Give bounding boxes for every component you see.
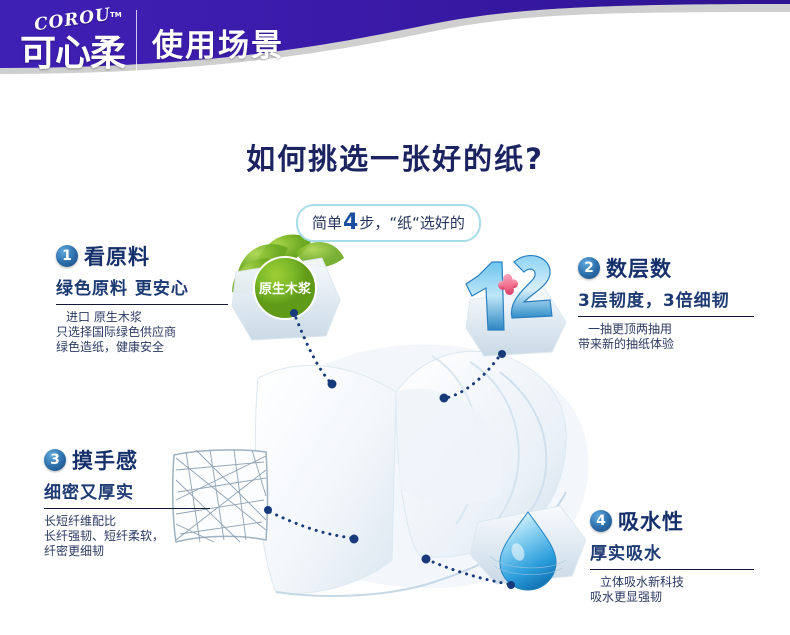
banner-title: 使用场景	[152, 20, 284, 65]
digit-two	[511, 256, 552, 318]
step-1-detail-line-1: 进口 原生木浆	[56, 310, 232, 325]
step-block-2: 2 数层数 3层韧度，3倍细韧 一抽更顶两抽用 带来新的抽纸体验	[578, 253, 758, 352]
step-3-heading: 3 摸手感	[44, 445, 212, 475]
step-3-subtitle: 细密又厚实	[44, 478, 212, 503]
subtitle-prefix: 简单	[312, 214, 342, 232]
step-4-detail-line-2: 吸水更显强韧	[590, 590, 662, 604]
step-3-rule	[44, 508, 210, 509]
step-1-detail-line-3: 绿色造纸，健康安全	[56, 340, 164, 354]
layers-1plus2-graphic	[466, 256, 566, 356]
subtitle-suffix: 步，“纸“选好的	[359, 214, 465, 232]
pulp-badge-label: 原生木浆	[259, 281, 312, 297]
step-1-number-badge: 1	[56, 245, 78, 267]
header-divider	[136, 10, 137, 76]
step-2-title: 数层数	[606, 253, 672, 283]
step-2-heading: 2 数层数	[578, 253, 758, 283]
step-4-detail-line-1: 立体吸水新科技	[590, 575, 758, 590]
step-1-heading: 1 看原料	[56, 241, 232, 271]
step-4-title: 吸水性	[618, 506, 684, 536]
subtitle-number: 4	[342, 210, 359, 235]
step-4-rule	[590, 569, 754, 570]
step-2-rule	[578, 316, 754, 317]
trademark-icon: TM	[110, 11, 122, 19]
step-3-title: 摸手感	[72, 445, 138, 475]
logo-chinese-text: 可心柔	[20, 24, 125, 76]
step-2-subtitle: 3层韧度，3倍细韧	[578, 286, 758, 311]
step-4-subtitle: 厚实吸水	[590, 539, 758, 564]
step-3-detail-line-2: 长纤强韧、短纤柔软，	[44, 529, 164, 543]
step-2-detail-line-1: 一抽更顶两抽用	[578, 322, 758, 337]
step-1-title: 看原料	[84, 241, 150, 271]
step-2-detail-line-2: 带来新的抽纸体验	[578, 337, 674, 351]
step-2-details: 一抽更顶两抽用 带来新的抽纸体验	[578, 322, 758, 352]
step-1-rule	[56, 304, 228, 305]
subtitle-badge: 简单4步，“纸“选好的	[296, 204, 481, 242]
step-3-details: 长短纤维配比 长纤强韧、短纤柔软， 纤密更细韧	[44, 514, 212, 559]
step-3-number-badge: 3	[44, 449, 66, 471]
step-2-number-badge: 2	[578, 257, 600, 279]
natural-pulp-badge: 原生木浆	[232, 234, 344, 340]
step-1-detail-line-2: 只选择国际绿色供应商	[56, 325, 176, 339]
step-1-details: 进口 原生木浆 只选择国际绿色供应商 绿色造纸，健康安全	[56, 310, 232, 355]
step-4-heading: 4 吸水性	[590, 506, 758, 536]
step-block-3: 3 摸手感 细密又厚实 长短纤维配比 长纤强韧、短纤柔软， 纤密更细韧	[44, 445, 212, 559]
step-block-4: 4 吸水性 厚实吸水 立体吸水新科技 吸水更显强韧	[590, 506, 758, 605]
step-block-1: 1 看原料 绿色原料 更安心 进口 原生木浆 只选择国际绿色供应商 绿色造纸，健…	[56, 241, 232, 355]
step-3-detail-line-1: 长短纤维配比	[44, 514, 116, 528]
brand-logo: COROU TM 可心柔	[18, 8, 130, 70]
step-3-detail-line-3: 纤密更细韧	[44, 544, 104, 558]
step-4-details: 立体吸水新科技 吸水更显强韧	[590, 575, 758, 605]
step-1-subtitle: 绿色原料 更安心	[56, 274, 232, 299]
step-4-number-badge: 4	[590, 510, 612, 532]
